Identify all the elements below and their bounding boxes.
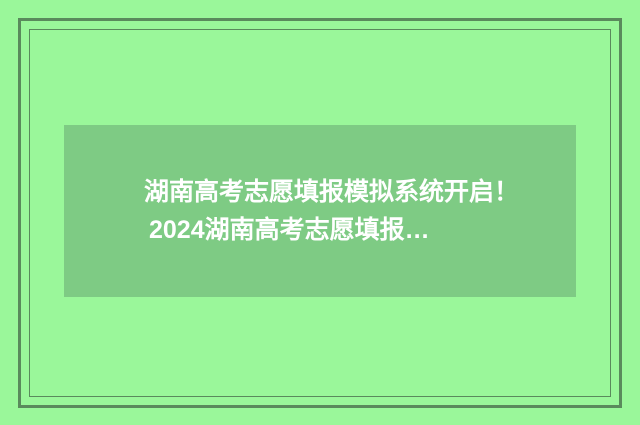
poster-canvas: 湖南高考志愿填报模拟系统开启！ 2024湖南高考志愿填报… — [0, 0, 640, 425]
headline-banner-band: 湖南高考志愿填报模拟系统开启！ 2024湖南高考志愿填报… — [64, 125, 576, 297]
headline-line-2: 2024湖南高考志愿填报… — [144, 211, 430, 249]
headline-text-block: 湖南高考志愿填报模拟系统开启！ 2024湖南高考志愿填报… — [64, 125, 576, 297]
headline-line-1: 湖南高考志愿填报模拟系统开启！ — [144, 173, 519, 211]
